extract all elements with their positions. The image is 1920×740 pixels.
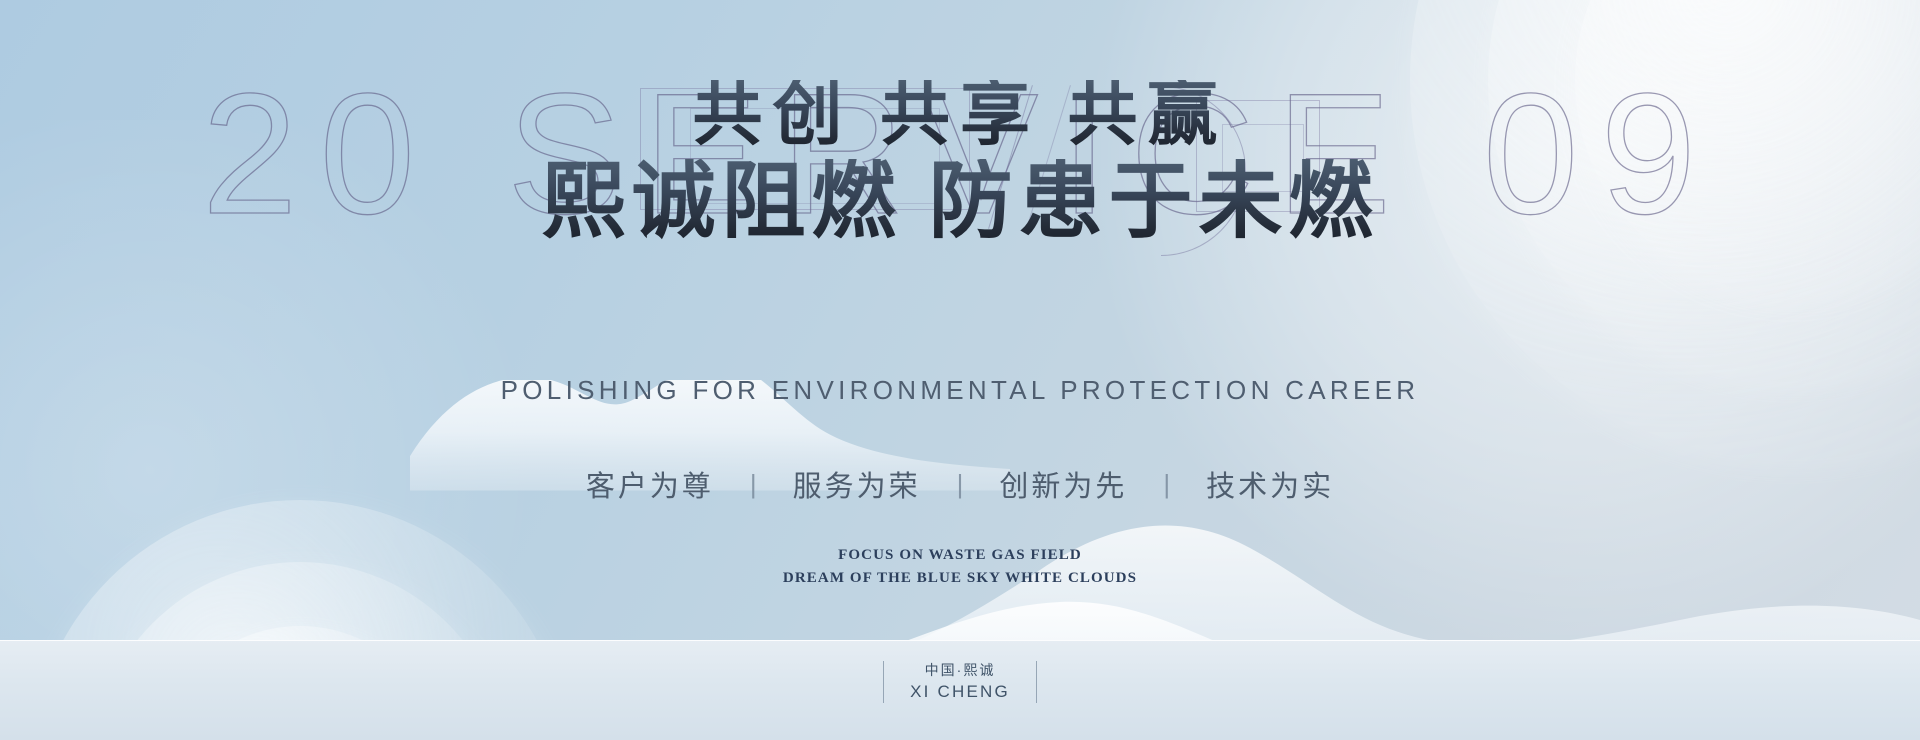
headline-line-2: 熙诚阻燃 防患于未燃 bbox=[0, 159, 1920, 246]
value-separator: | bbox=[957, 469, 964, 500]
brand-signature: 中国·熙诚 XI CHENG bbox=[0, 660, 1920, 704]
signature-english: XI CHENG bbox=[910, 681, 1010, 704]
core-value-item: 技术为实 bbox=[1170, 463, 1370, 505]
core-values-row: 客户为尊 | 服务为荣 | 创新为先 | 技术为实 bbox=[0, 463, 1920, 505]
value-separator: | bbox=[1163, 469, 1170, 500]
signature-chinese: 中国·熙诚 bbox=[910, 660, 1010, 681]
hero-banner: 20 SERVICE 09 bbox=[0, 0, 1920, 740]
core-value-item: 服务为荣 bbox=[757, 463, 957, 505]
core-value-item: 创新为先 bbox=[963, 463, 1163, 505]
sub-english-line-1: FOCUS ON WASTE GAS FIELD bbox=[0, 544, 1920, 567]
headline-line-1: 共创 共享 共赢 bbox=[0, 80, 1920, 153]
signature-divider-left bbox=[883, 661, 884, 703]
headline-block: 共创 共享 共赢 熙诚阻燃 防患于未燃 bbox=[0, 80, 1920, 246]
signature-divider-right bbox=[1036, 661, 1037, 703]
sub-english-line-2: DREAM OF THE BLUE SKY WHITE CLOUDS bbox=[0, 567, 1920, 590]
value-separator: | bbox=[750, 469, 757, 500]
signature-text: 中国·熙诚 XI CHENG bbox=[910, 660, 1010, 704]
english-tagline: POLISHING FOR ENVIRONMENTAL PROTECTION C… bbox=[0, 375, 1920, 406]
core-value-item: 客户为尊 bbox=[550, 463, 750, 505]
sub-english-block: FOCUS ON WASTE GAS FIELD DREAM OF THE BL… bbox=[0, 544, 1920, 591]
english-tagline-text: POLISHING FOR ENVIRONMENTAL PROTECTION C… bbox=[501, 375, 1420, 405]
